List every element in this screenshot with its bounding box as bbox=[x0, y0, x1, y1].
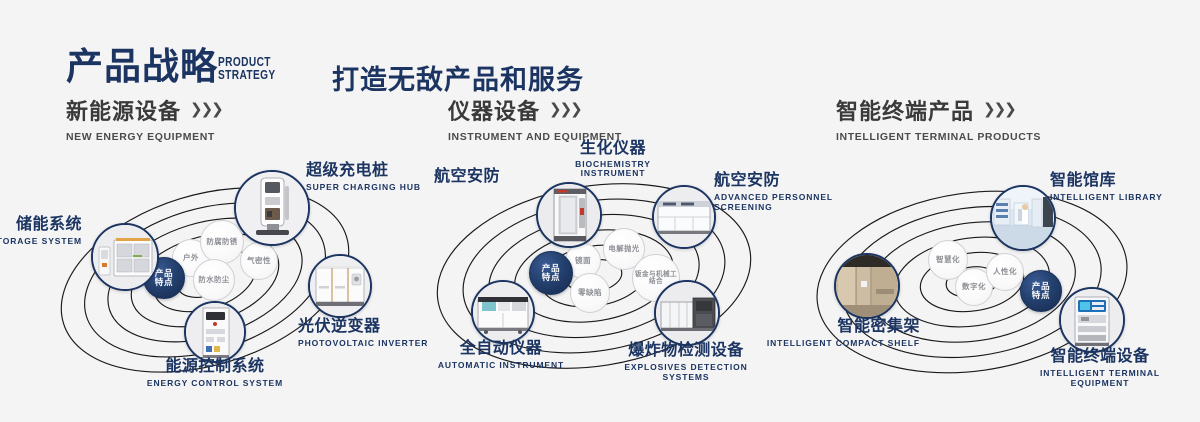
node-intelligent-terminal-equipment[interactable] bbox=[1059, 287, 1125, 353]
node-energy-control-system[interactable] bbox=[184, 301, 246, 363]
node-caption-intelligent-compact-shelf: 智能密集架 INTELLIGENT COMPACT SHELF bbox=[720, 318, 920, 348]
node-biochemistry-instrument[interactable] bbox=[536, 182, 602, 248]
section-title-new-energy: 新能源设备❯❯❯ NEW ENERGY EQUIPMENT bbox=[66, 94, 222, 143]
screening-machine-photo bbox=[654, 187, 714, 247]
library-room-photo bbox=[992, 187, 1054, 249]
node-caption-energy-control-system: 能源控制系统 ENERGY CONTROL SYSTEM bbox=[120, 358, 310, 388]
core-bubble-product-features: 产品 特点 bbox=[1020, 270, 1062, 312]
node-photovoltaic-inverter[interactable] bbox=[308, 254, 372, 318]
core-bubble-product-features: 产品 特点 bbox=[529, 251, 573, 295]
compact-shelf-photo bbox=[836, 255, 898, 317]
node-intelligent-library[interactable] bbox=[990, 185, 1056, 251]
node-caption-intelligent-library: 智能馆库 INTELLIGENT LIBRARY bbox=[1050, 172, 1200, 202]
node-caption-automatic-instrument: 全自动仪器 AUTOMATIC INSTRUMENT bbox=[421, 340, 581, 370]
node-caption-energy-storage-system: 储能系统 ENERGY STORAGE SYSTEM bbox=[0, 216, 82, 246]
poster-canvas: 产品战略 PRODUCT STRATEGY 打造无敌产品和服务 新能源设备❯❯❯… bbox=[0, 0, 1200, 422]
node-energy-storage-system[interactable] bbox=[91, 223, 159, 291]
feature-bubble: 气密性 bbox=[240, 242, 278, 280]
section-title-cn: 智能终端产品 bbox=[836, 94, 974, 126]
section-title-cn: 仪器设备 bbox=[448, 94, 540, 126]
section-title-en: NEW ENERGY EQUIPMENT bbox=[66, 131, 222, 143]
page-title-english-line2: STRATEGY bbox=[218, 68, 276, 81]
chevron-right-icon: ❯❯❯ bbox=[190, 100, 222, 118]
cluster-instrument: 镜面 电解抛光 钣金与机械工结合 零缺陷 产品 特点 bbox=[398, 150, 798, 410]
node-super-charging-hub[interactable] bbox=[234, 170, 310, 246]
control-cabinet-photo bbox=[186, 303, 244, 361]
core-bubble-line2: 特点 bbox=[1032, 291, 1050, 300]
explosive-detector-photo bbox=[656, 282, 718, 344]
node-caption-aviation-security-left: 航空安防 bbox=[350, 168, 500, 186]
node-explosives-detection-systems[interactable] bbox=[654, 280, 720, 346]
cluster-intelligent-terminal: 智慧化 数字化 人性化 产品 特点 bbox=[800, 150, 1200, 410]
feature-bubble: 零缺陷 bbox=[570, 273, 610, 313]
section-title-en: INTELLIGENT TERMINAL PRODUCTS bbox=[836, 131, 1041, 143]
core-bubble-line2: 特点 bbox=[155, 278, 173, 287]
headline: 打造无敌产品和服务 bbox=[332, 58, 584, 97]
masthead: 产品战略 PRODUCT STRATEGY 打造无敌产品和服务 bbox=[0, 22, 1200, 80]
self-service-kiosk-photo bbox=[1061, 289, 1123, 351]
node-automatic-instrument[interactable] bbox=[471, 280, 535, 344]
page-title: 产品战略 bbox=[66, 48, 218, 85]
charging-pile-photo bbox=[236, 172, 308, 244]
node-caption-intelligent-terminal-equipment: 智能终端设备 INTELLIGENT TERMINAL EQUIPMENT bbox=[1010, 348, 1190, 389]
page-title-english: PRODUCT STRATEGY bbox=[218, 55, 276, 81]
feature-bubble: 防水防尘 bbox=[193, 259, 235, 301]
core-bubble-line2: 特点 bbox=[542, 273, 560, 282]
section-title-cn: 新能源设备 bbox=[66, 94, 181, 126]
chevron-right-icon: ❯❯❯ bbox=[983, 100, 1015, 118]
cluster-new-energy: 户外 防腐防锈 防水防尘 气密性 产品 特点 bbox=[0, 150, 400, 410]
node-caption-biochemistry-instrument: 生化仪器 BIOCHEMISTRY INSTRUMENT bbox=[548, 140, 678, 179]
node-intelligent-compact-shelf[interactable] bbox=[834, 253, 900, 319]
chevron-right-icon: ❯❯❯ bbox=[549, 100, 581, 118]
section-title-instrument: 仪器设备❯❯❯ INSTRUMENT AND EQUIPMENT bbox=[448, 94, 622, 143]
node-advanced-personnel-screening[interactable] bbox=[652, 185, 716, 249]
section-title-intelligent-terminal: 智能终端产品❯❯❯ INTELLIGENT TERMINAL PRODUCTS bbox=[836, 94, 1041, 143]
feature-bubble: 人性化 bbox=[986, 253, 1024, 291]
battery-cabinet-photo bbox=[93, 225, 157, 289]
automatic-instrument-photo bbox=[473, 282, 533, 342]
biochem-analyzer-photo bbox=[538, 184, 600, 246]
inverter-cabinet-photo bbox=[310, 256, 370, 316]
